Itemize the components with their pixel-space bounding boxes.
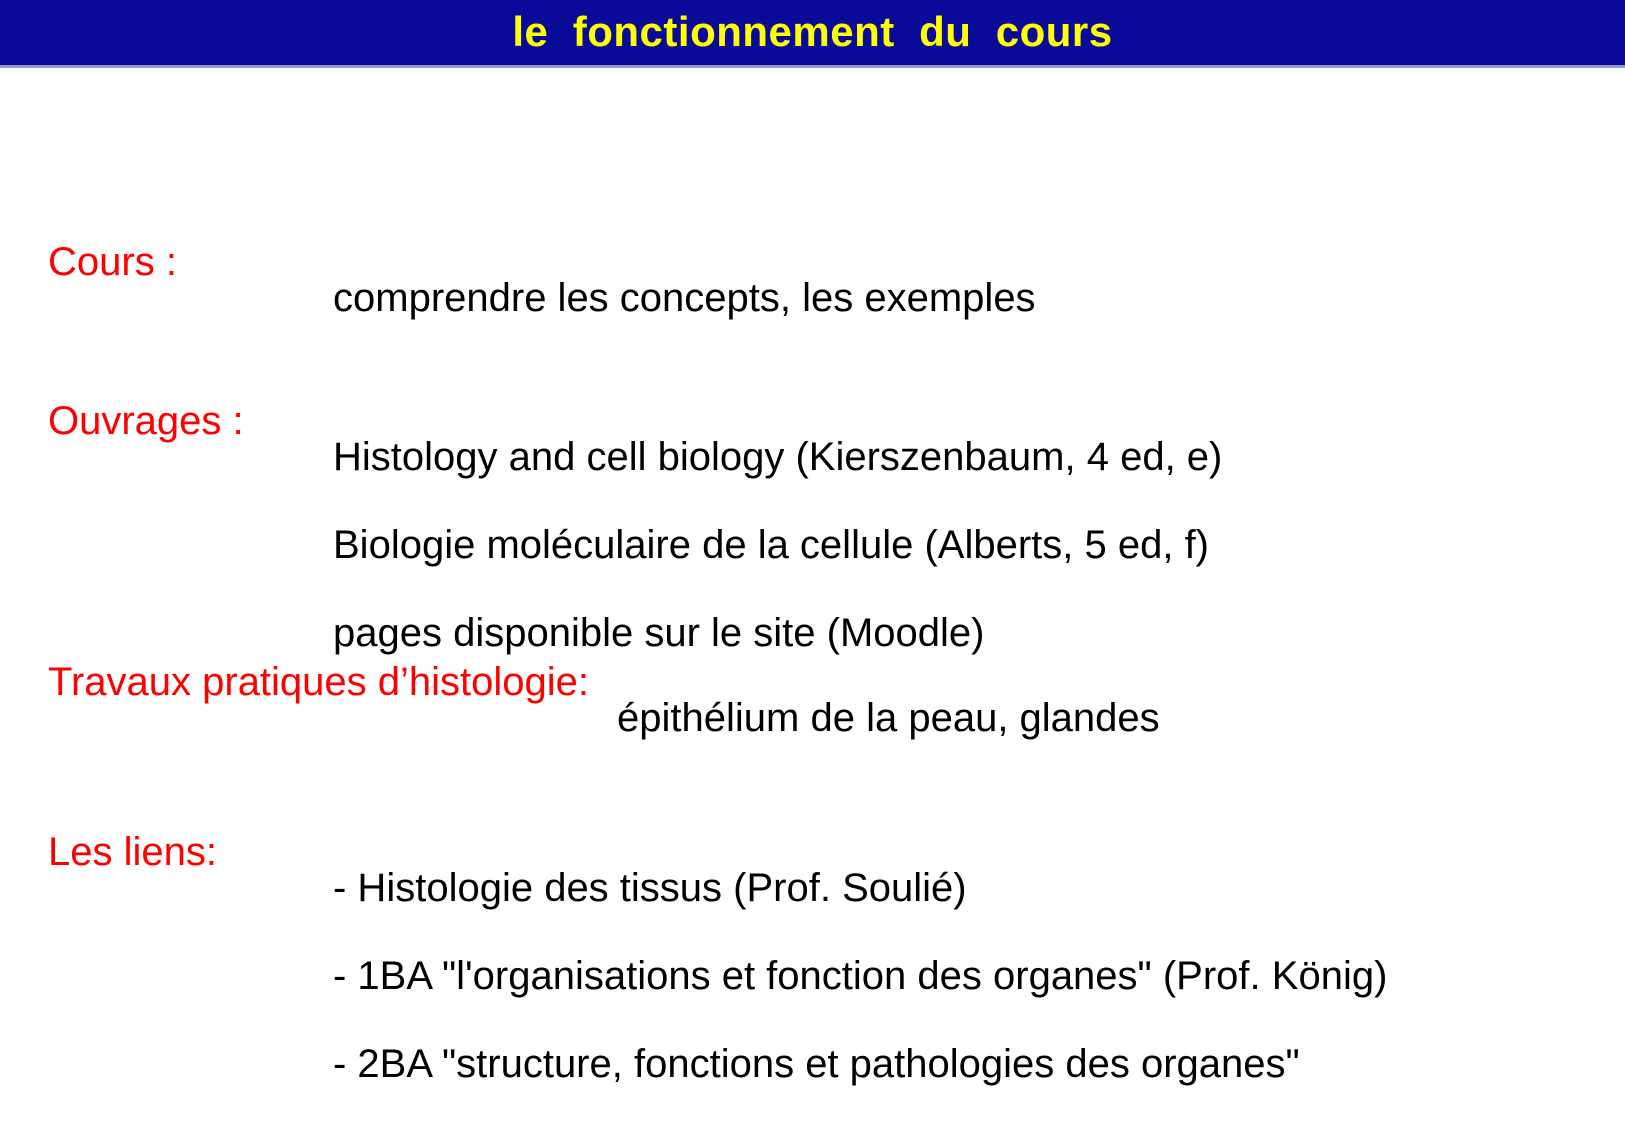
section-liens-line-2: - 1BA "l'organisations et fonction des o… bbox=[333, 950, 1387, 1002]
slide-body: Cours : comprendre les concepts, les exe… bbox=[0, 68, 1625, 1125]
section-travaux-pratiques-label: Travaux pratiques d’histologie: bbox=[48, 656, 589, 708]
slide-title: le fonctionnement du cours bbox=[512, 11, 1112, 53]
section-liens-content: - Histologie des tissus (Prof. Soulié) -… bbox=[333, 826, 1387, 1126]
section-liens: Les liens: - Histologie des tissus (Prof… bbox=[48, 826, 1387, 1126]
section-liens-label: Les liens: bbox=[48, 826, 333, 878]
section-cours-content: comprendre les concepts, les exemples bbox=[333, 236, 1036, 360]
section-ouvrages-line-2: Biologie moléculaire de la cellule (Albe… bbox=[333, 519, 1222, 571]
section-liens-line-1: - Histologie des tissus (Prof. Soulié) bbox=[333, 862, 1387, 914]
section-travaux-pratiques-line-1: épithélium de la peau, glandes bbox=[617, 692, 1160, 744]
section-cours-line-1: comprendre les concepts, les exemples bbox=[333, 272, 1036, 324]
section-ouvrages-content: Histology and cell biology (Kierszenbaum… bbox=[333, 395, 1222, 695]
section-ouvrages: Ouvrages : Histology and cell biology (K… bbox=[48, 395, 1222, 695]
section-travaux-pratiques: Travaux pratiques d’histologie: épithéli… bbox=[48, 656, 1160, 780]
section-ouvrages-line-3: pages disponible sur le site (Moodle) bbox=[333, 607, 1222, 659]
section-ouvrages-line-1: Histology and cell biology (Kierszenbaum… bbox=[333, 431, 1222, 483]
section-ouvrages-label: Ouvrages : bbox=[48, 395, 333, 447]
slide: le fonctionnement du cours Cours : compr… bbox=[0, 0, 1625, 1125]
section-liens-line-3: - 2BA "structure, fonctions et pathologi… bbox=[333, 1038, 1387, 1090]
title-bar: le fonctionnement du cours bbox=[0, 0, 1625, 68]
section-cours-label: Cours : bbox=[48, 236, 333, 288]
section-travaux-pratiques-content: épithélium de la peau, glandes bbox=[617, 656, 1160, 780]
section-cours: Cours : comprendre les concepts, les exe… bbox=[48, 236, 1036, 360]
